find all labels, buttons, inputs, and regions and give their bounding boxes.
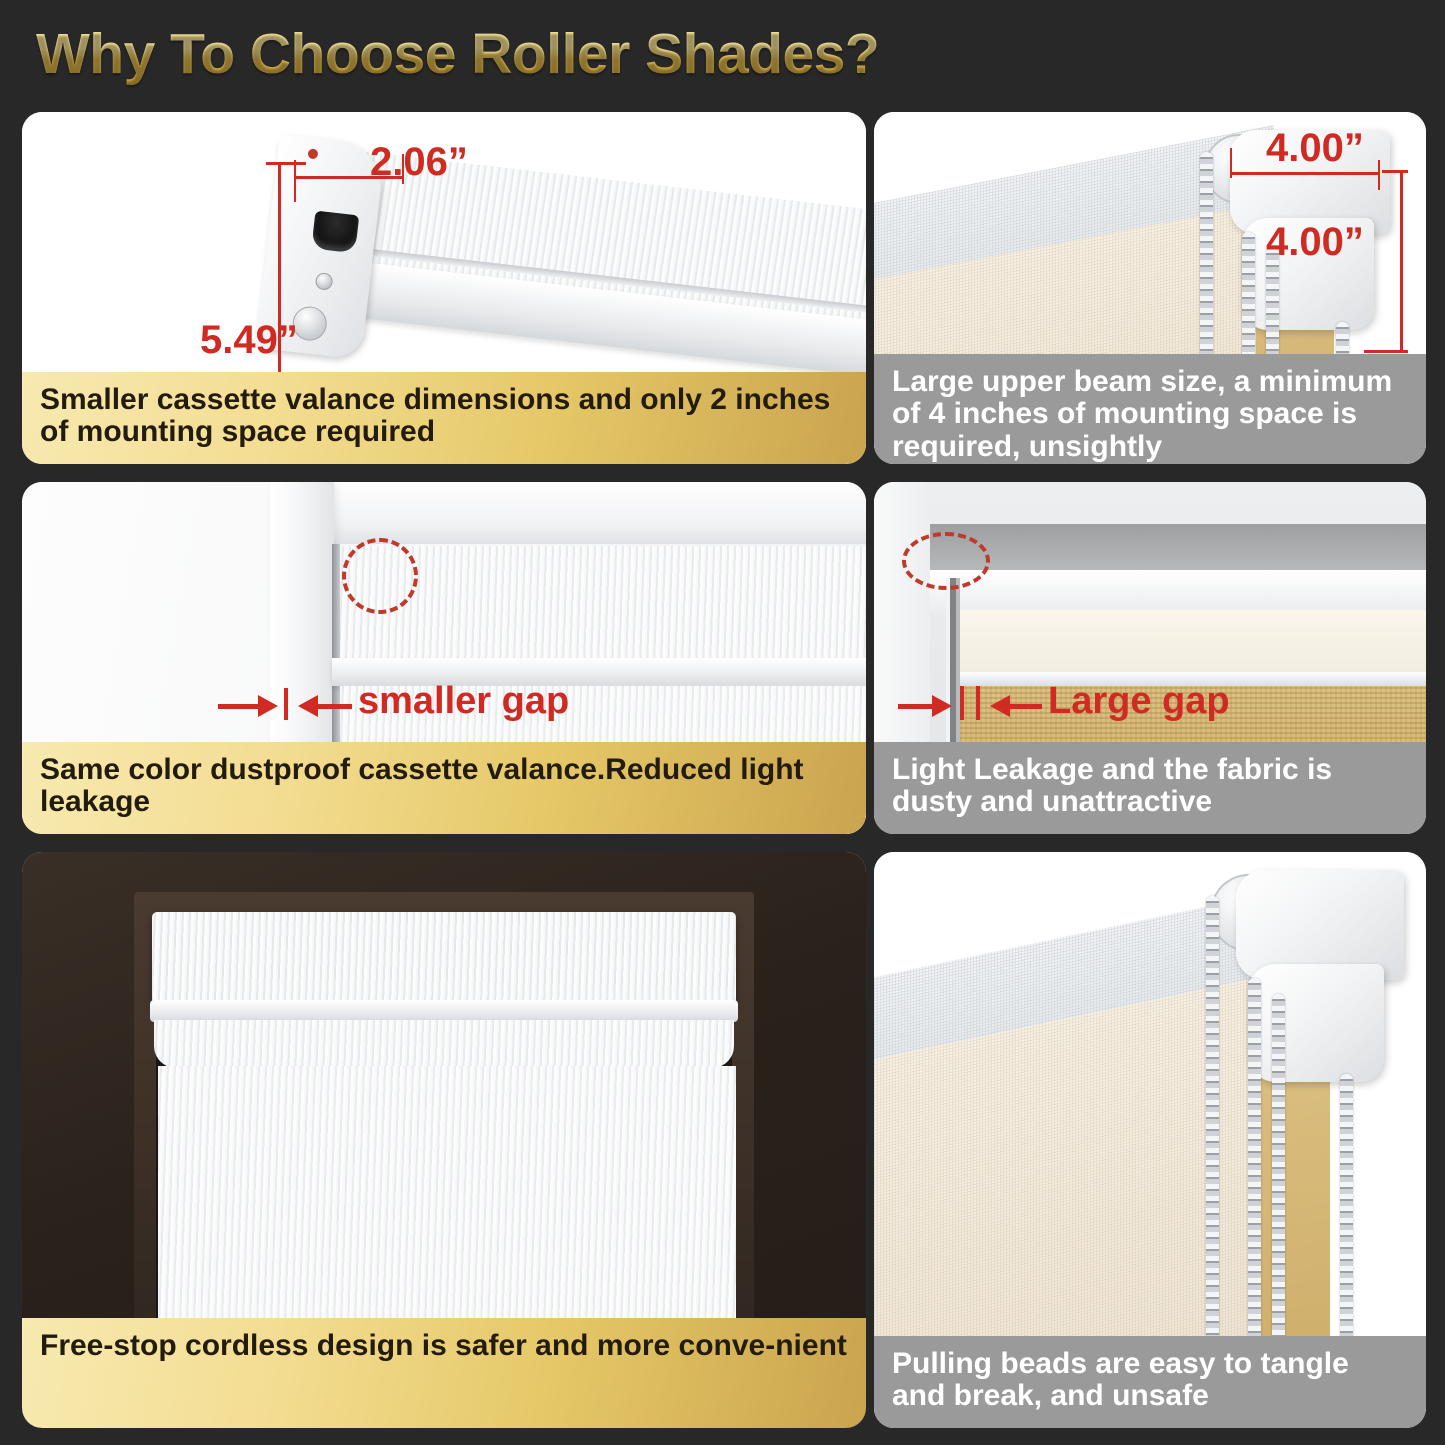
panel-smaller-gap: smaller gap Same color dustproof cassett… bbox=[22, 482, 866, 834]
panel-large-gap: Large gap Light Leakage and the fabric i… bbox=[874, 482, 1426, 834]
bracket-slot-icon bbox=[311, 211, 359, 254]
valance-rail bbox=[150, 1000, 738, 1022]
gap-arrow-head bbox=[258, 695, 278, 717]
page-title: Why To Choose Roller Shades? bbox=[36, 18, 879, 90]
gap-arrow-head bbox=[990, 695, 1010, 717]
beam-width-dimension-label: 4.00” bbox=[1266, 126, 1364, 171]
page-title-container: Why To Choose Roller Shades? bbox=[36, 18, 879, 90]
highlight-circle-annotation bbox=[342, 538, 418, 614]
beam-height-dimension-line bbox=[1382, 170, 1408, 173]
shade-fabric-upper bbox=[340, 546, 866, 658]
beam-width-dimension-line bbox=[1230, 172, 1380, 175]
large-gap-label: Large gap bbox=[1048, 680, 1230, 723]
gap-tick bbox=[284, 688, 288, 720]
mounting-bracket-lower bbox=[1248, 964, 1384, 1082]
cassette-valance bbox=[152, 912, 736, 1004]
shade-fabric-cream bbox=[952, 610, 1426, 676]
panel-6-caption: Pulling beads are easy to tangle and bre… bbox=[874, 1336, 1426, 1428]
width-dimension-label: 2.06” bbox=[370, 140, 468, 185]
panel-1-caption: Smaller cassette valance dimensions and … bbox=[22, 372, 866, 464]
smaller-gap-label: smaller gap bbox=[358, 680, 569, 723]
panel-5-caption: Free-stop cordless design is safer and m… bbox=[22, 1318, 866, 1428]
panel-large-beam: 4.00” 4.00” Large upper beam size, a min… bbox=[874, 112, 1426, 464]
valance-lower bbox=[154, 1020, 734, 1068]
panel-3-caption: Same color dustproof cassette valance.Re… bbox=[22, 742, 866, 834]
highlight-circle-annotation bbox=[902, 532, 990, 590]
height-dimension-line bbox=[266, 162, 306, 165]
panel-beaded-chain: Pulling beads are easy to tangle and bre… bbox=[874, 852, 1426, 1428]
beam-height-dimension-label: 4.00” bbox=[1266, 220, 1364, 265]
beam-height-dimension-line bbox=[1400, 170, 1403, 352]
gap-tick bbox=[976, 686, 980, 720]
panel-cassette-dimensions: 2.06” 5.49” Smaller cassette valance dim… bbox=[22, 112, 866, 464]
beaded-chain bbox=[1248, 978, 1261, 1358]
beam-width-dimension-line bbox=[1378, 160, 1380, 190]
ceiling-shadow bbox=[930, 524, 1426, 570]
gap-arrow-head bbox=[932, 695, 952, 717]
comparison-grid: 2.06” 5.49” Smaller cassette valance dim… bbox=[0, 96, 1445, 1445]
mount-dot bbox=[307, 148, 318, 159]
height-dimension-label: 5.49” bbox=[200, 318, 298, 363]
screw-icon bbox=[315, 272, 334, 291]
panel-2-caption: Large upper beam size, a minimum of 4 in… bbox=[874, 354, 1426, 464]
beam-height-dimension-line bbox=[1364, 350, 1408, 353]
gap-tick bbox=[960, 686, 964, 720]
panel-4-caption: Light Leakage and the fabric is dusty an… bbox=[874, 742, 1426, 834]
beaded-chain bbox=[1206, 896, 1219, 1358]
window-head-casing bbox=[270, 482, 866, 544]
width-dimension-line bbox=[294, 160, 296, 202]
panel-cordless-window: ||| Free-stop cordless design is safer a… bbox=[22, 852, 866, 1428]
gap-arrow-head bbox=[298, 695, 318, 717]
beaded-chain bbox=[1272, 994, 1285, 1358]
beaded-chain bbox=[1340, 1074, 1353, 1358]
